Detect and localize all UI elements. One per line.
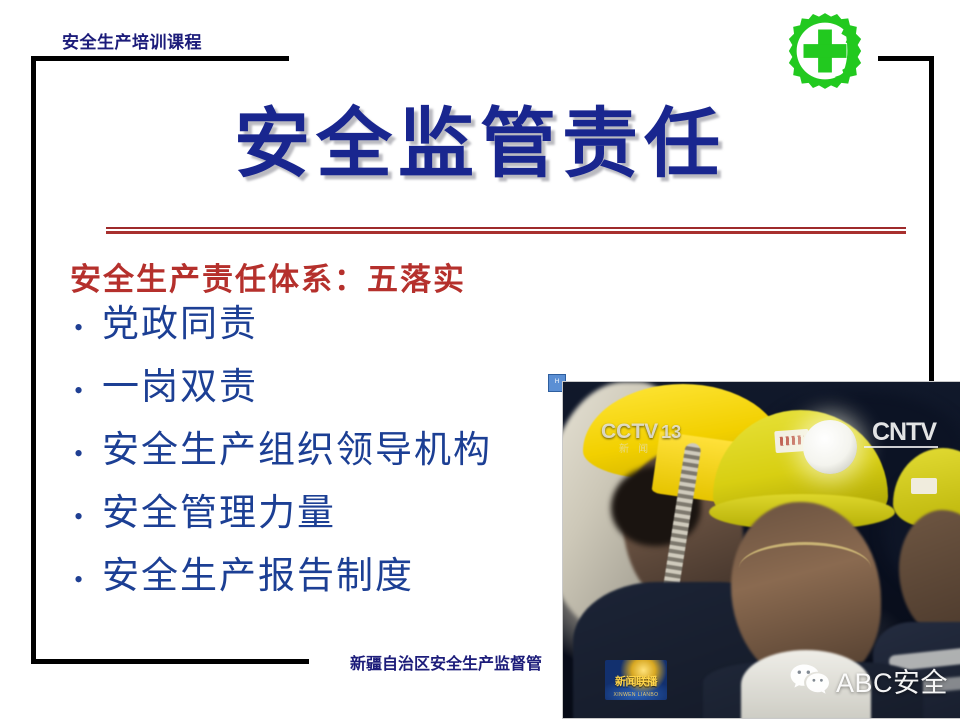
slide-footer-text: 新疆自治区安全生产监督管: [350, 650, 542, 674]
safety-production-logo-icon: [782, 8, 868, 94]
cntv-bug-underline: [864, 446, 938, 448]
news-photo-overlay[interactable]: CCTV13 新 闻 CNTV 新闻联播 XINWEN LIANBO: [563, 382, 960, 718]
bullet-dot-icon: •: [70, 567, 102, 593]
list-item: • 一岗双责: [70, 368, 590, 431]
wechat-watermark-label: ABC安全: [836, 661, 948, 700]
list-item: • 安全生产组织领导机构: [70, 431, 590, 494]
bullet-label: 党政同责: [102, 305, 258, 344]
frame-border-bottom: [31, 659, 309, 664]
bullet-label: 安全生产组织领导机构: [102, 431, 492, 470]
presentation-slide: 安全生产培训课程: [0, 0, 960, 720]
list-item: • 安全管理力量: [70, 494, 590, 557]
bullet-dot-icon: •: [70, 504, 102, 530]
xinwen-lianbo-logo-cn: 新闻联播: [605, 673, 667, 689]
rule-line-upper: [106, 227, 906, 229]
frame-border-top: [31, 56, 289, 61]
slide-header-title: 安全生产培训课程: [62, 28, 202, 53]
xinwen-lianbo-logo-pinyin: XINWEN LIANBO: [605, 692, 667, 698]
bullet-dot-icon: •: [70, 441, 102, 467]
photo-person-center-headlamp: [803, 420, 857, 474]
wechat-watermark: ABC安全: [789, 661, 948, 700]
slide-main-title: 安全监管责任: [0, 106, 960, 182]
bullet-label: 安全生产报告制度: [102, 557, 414, 596]
cntv-network-bug: CNTV: [872, 418, 936, 447]
cctv-bug-subtext: 新 闻: [619, 440, 651, 455]
photo-person-right-helmet-badge: [911, 478, 937, 494]
list-item: • 安全生产报告制度: [70, 557, 590, 620]
xinwen-lianbo-logo: 新闻联播 XINWEN LIANBO: [605, 660, 667, 700]
cctv-channel-number: 13: [661, 422, 681, 442]
wechat-icon: [789, 662, 829, 699]
title-divider-rule: [106, 227, 906, 235]
bullet-label: 一岗双责: [102, 368, 258, 407]
bullet-dot-icon: •: [70, 378, 102, 404]
bullet-label: 安全管理力量: [102, 494, 336, 533]
bullet-list: • 党政同责 • 一岗双责 • 安全生产组织领导机构 • 安全管理力量 • 安全…: [70, 305, 590, 620]
list-item: • 党政同责: [70, 305, 590, 368]
slide-subtitle: 安全生产责任体系：五落实: [70, 254, 466, 299]
frame-border-top-right: [878, 56, 934, 61]
bullet-dot-icon: •: [70, 315, 102, 341]
rule-line-lower: [106, 231, 906, 234]
